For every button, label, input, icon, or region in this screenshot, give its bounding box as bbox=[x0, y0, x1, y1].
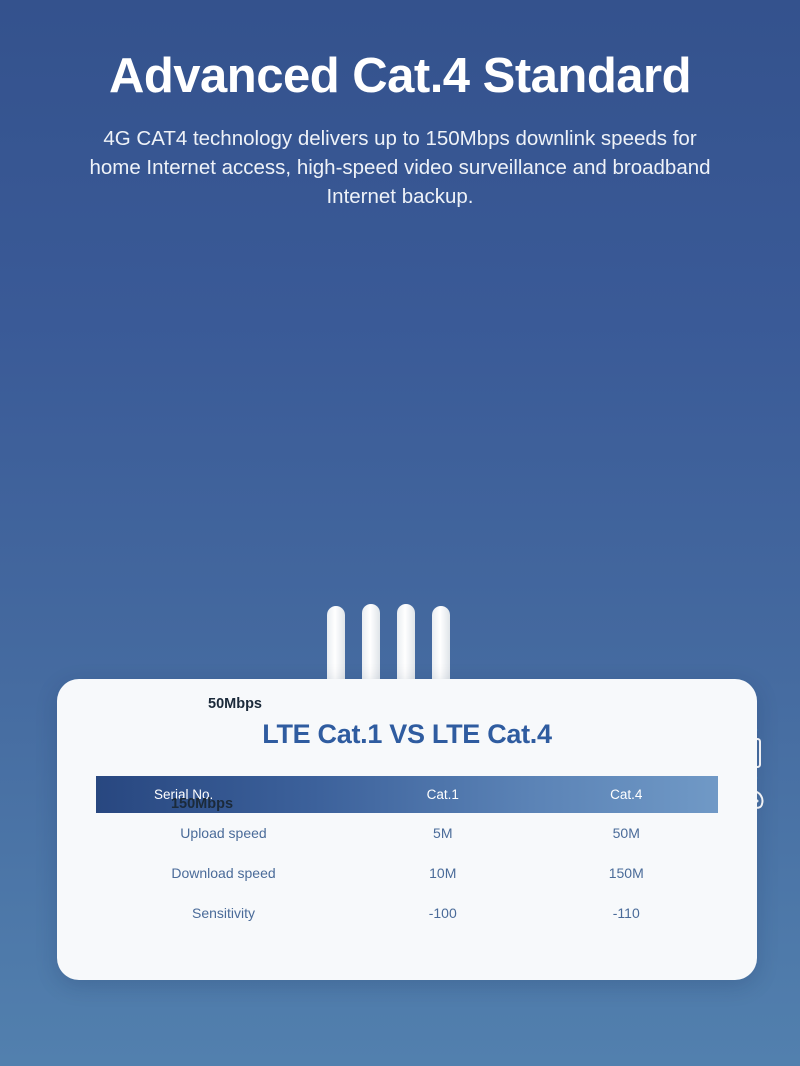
table-row: Download speed 10M 150M bbox=[96, 853, 718, 893]
column-header-cat1: Cat.1 bbox=[351, 787, 534, 802]
page-subtitle: 4G CAT4 technology delivers up to 150Mbp… bbox=[75, 124, 725, 211]
table-row: Sensitivity -100 -110 bbox=[96, 893, 718, 933]
row-cat4-value: -110 bbox=[535, 905, 718, 921]
row-cat1-value: 5M bbox=[351, 825, 534, 841]
row-cat4-value: 150M bbox=[535, 865, 718, 881]
downlink-arrow: 150Mbps bbox=[161, 786, 279, 822]
uplink-arrow: 50Mbps bbox=[158, 686, 276, 722]
comparison-card: LTE Cat.1 VS LTE Cat.4 Serial No. Cat.1 … bbox=[57, 679, 757, 980]
row-label: Upload speed bbox=[96, 825, 351, 841]
row-cat1-value: 10M bbox=[351, 865, 534, 881]
promo-page: Advanced Cat.4 Standard 4G CAT4 technolo… bbox=[0, 0, 800, 1066]
uplink-speed-label: 50Mbps bbox=[158, 686, 276, 722]
row-label: Download speed bbox=[96, 865, 351, 881]
header-section: Advanced Cat.4 Standard 4G CAT4 technolo… bbox=[0, 0, 800, 211]
row-cat4-value: 50M bbox=[535, 825, 718, 841]
downlink-speed-label: 150Mbps bbox=[161, 786, 279, 822]
network-diagram: 50Mbps 4G LTE 150Mbps bbox=[0, 253, 800, 583]
page-title: Advanced Cat.4 Standard bbox=[0, 50, 800, 104]
row-cat1-value: -100 bbox=[351, 905, 534, 921]
column-header-cat4: Cat.4 bbox=[535, 787, 718, 802]
row-label: Sensitivity bbox=[96, 905, 351, 921]
